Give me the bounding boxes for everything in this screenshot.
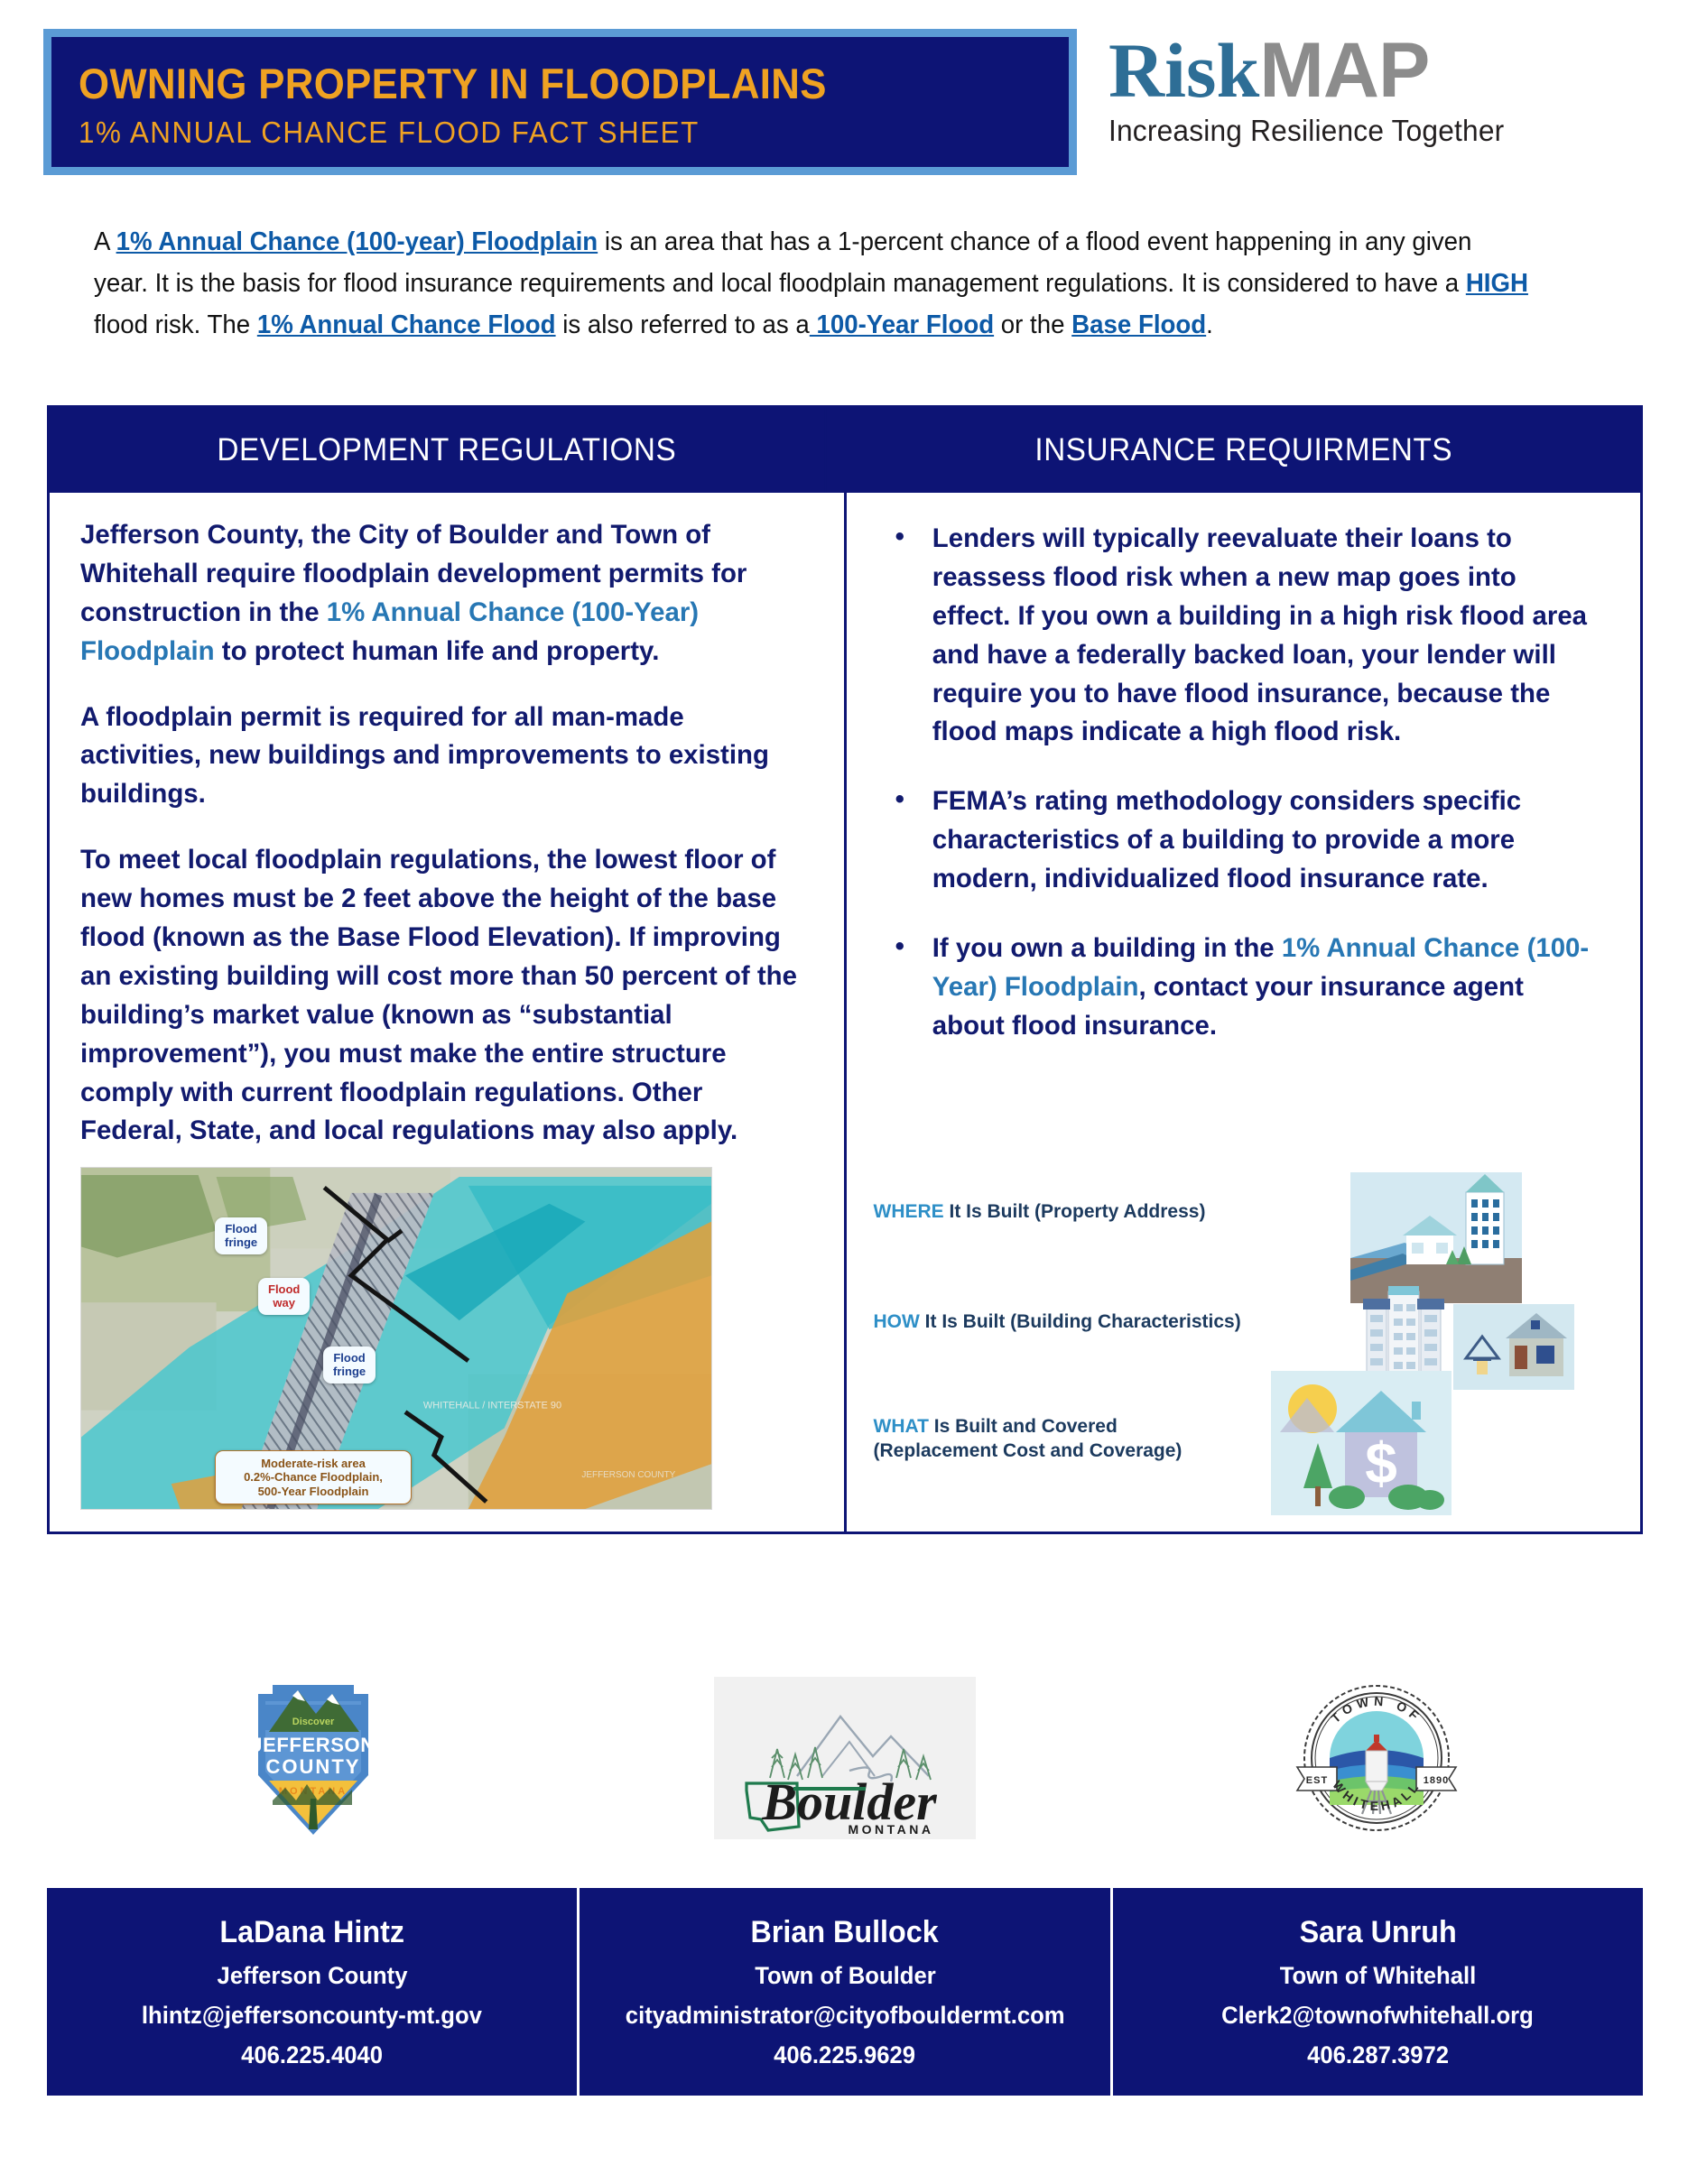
svg-text:Discover: Discover [292,1717,334,1727]
infographic-rest: It Is Built (Property Address) [944,1201,1206,1222]
regulation-paragraph: Jefferson County, the City of Boulder an… [80,516,798,671]
svg-text:1890: 1890 [1424,1775,1449,1786]
link-base-flood[interactable]: Base Flood [1071,310,1206,339]
contact-org: Town of Whitehall [1280,1962,1477,1990]
infographic-label-what: WHAT Is Built and Covered (Replacement C… [863,1414,1332,1464]
riskmap-logo-risk: Risk [1108,27,1259,114]
footer-contacts: LaDana Hintz Jefferson County lhintz@jef… [47,1888,1643,2096]
contact-phone[interactable]: 406.287.3972 [1307,2041,1449,2069]
insurance-rating-infographic: WHERE It Is Built (Property Address) [863,1190,1576,1515]
logo-boulder-montana: Boulder MONTANA [579,1661,1110,1855]
table-header-row: DEVELOPMENT REGULATIONS INSURANCE REQUIR… [50,408,1640,493]
contact-name: Sara Unruh [1299,1915,1456,1950]
infographic-label-how: HOW It Is Built (Building Characteristic… [863,1309,1332,1334]
riskmap-logo: RiskMAP Increasing Resilience Together [1108,34,1650,148]
svg-text:MONTANA: MONTANA [848,1822,933,1837]
svg-text:COUNTY: COUNTY [265,1755,360,1778]
list-item: If you own a building in the 1% Annual C… [877,930,1595,1046]
page-subtitle: 1% ANNUAL CHANCE FLOOD FACT SHEET [79,116,994,150]
what-covered-illustration: $ [1271,1371,1451,1515]
map-label-flood-fringe-bottom: Floodfringe [323,1346,376,1384]
svg-text:EST: EST [1306,1775,1328,1786]
link-1pct-annual-chance-floodplain[interactable]: 1% Annual Chance (100-year) Floodplain [116,227,598,256]
contact-card: Brian Bullock Town of Boulder cityadmini… [577,1888,1109,2096]
contact-name: Brian Bullock [751,1915,939,1950]
list-item: FEMA’s rating methodology considers spec… [877,782,1595,899]
infographic-row-how: HOW It Is Built (Building Characteristic… [863,1309,1576,1334]
regulation-paragraph: A floodplain permit is required for all … [80,699,798,815]
svg-text:WHITEHALL / INTERSTATE 90: WHITEHALL / INTERSTATE 90 [423,1401,561,1411]
contact-name: LaDana Hintz [219,1915,404,1950]
infographic-row-what: WHAT Is Built and Covered (Replacement C… [863,1414,1576,1464]
intro-text-1: A [94,227,116,256]
fact-sheet-page: OWNING PROPERTY IN FLOODPLAINS 1% ANNUAL… [0,0,1688,2184]
infographic-row-where: WHERE It Is Built (Property Address) [863,1199,1576,1224]
contact-phone[interactable]: 406.225.4040 [241,2041,383,2069]
regulation-paragraph: To meet local floodplain regulations, th… [80,841,798,1151]
link-1pct-annual-chance-flood[interactable]: 1% Annual Chance Flood [257,310,556,339]
contact-email[interactable]: Clerk2@townofwhitehall.org [1221,2002,1534,2030]
intro-text-4: is also referred to as a [556,310,810,339]
infographic-label-where: WHERE It Is Built (Property Address) [863,1199,1332,1224]
main-content-table: DEVELOPMENT REGULATIONS INSURANCE REQUIR… [47,405,1643,1534]
svg-text:JEFFERSON COUNTY: JEFFERSON COUNTY [581,1470,675,1480]
map-label-flood-fringe-top: Floodfringe [215,1217,267,1254]
infographic-keyword: WHAT [874,1416,929,1437]
intro-text-5: or the [994,310,1071,339]
list-item: Lenders will typically reevaluate their … [877,520,1595,752]
map-label-floodway: Floodway [258,1278,310,1315]
infographic-rest: It Is Built (Building Characteristics) [920,1311,1241,1332]
column-header-development-regulations: DEVELOPMENT REGULATIONS [70,408,826,493]
town-of-whitehall-logo-icon: EST 1890 TOWN OF WHITEHALL [1295,1677,1458,1839]
jefferson-county-logo-icon: Discover JEFFERSON COUNTY MONTANA [246,1674,381,1841]
page-title: OWNING PROPERTY IN FLOODPLAINS [79,61,974,106]
riskmap-logo-map: MAP [1259,27,1429,114]
floodplain-map-image: WHITEHALL / INTERSTATE 90 JEFFERSON COUN… [80,1167,712,1510]
development-regulations-cell: Jefferson County, the City of Boulder an… [50,493,847,1532]
intro-paragraph: A 1% Annual Chance (100-year) Floodplain… [94,221,1530,346]
svg-text:JEFFERSON: JEFFERSON [251,1734,375,1756]
map-label-moderate-risk-area: Moderate-risk area0.2%-Chance Floodplain… [215,1450,412,1504]
svg-text:$: $ [1365,1430,1397,1495]
page-header: OWNING PROPERTY IN FLOODPLAINS 1% ANNUAL… [0,0,1688,191]
intro-text-3: flood risk. The [94,310,257,339]
table-body-row: Jefferson County, the City of Boulder an… [50,493,1640,1532]
riskmap-tagline: Increasing Resilience Together [1108,114,1628,148]
regulation-text-b: to protect human life and property. [215,636,660,666]
column-header-insurance-requirements: INSURANCE REQUIRMENTS [866,408,1620,493]
contact-email[interactable]: lhintz@jeffersoncounty-mt.gov [142,2002,482,2030]
intro-text-6: . [1206,310,1213,339]
insurance-bullet-list: Lenders will typically reevaluate their … [877,520,1610,1046]
bullet-text-a: If you own a building in the [932,933,1281,963]
logo-jefferson-county: Discover JEFFERSON COUNTY MONTANA [47,1661,579,1855]
logo-town-of-whitehall: EST 1890 TOWN OF WHITEHALL [1111,1661,1643,1855]
bullet-text-a: FEMA’s rating methodology considers spec… [932,786,1520,893]
insurance-requirements-cell: Lenders will typically reevaluate their … [847,493,1641,1532]
contact-org: Jefferson County [217,1962,407,1990]
infographic-keyword: WHERE [874,1201,944,1222]
contact-phone[interactable]: 406.225.9629 [774,2041,916,2069]
infographic-keyword: HOW [874,1311,920,1332]
boulder-montana-logo-icon: Boulder MONTANA [714,1677,976,1839]
link-100-year-flood[interactable]: 100-Year Flood [810,310,994,339]
link-high[interactable]: HIGH [1466,269,1528,298]
contact-email[interactable]: cityadministrator@cityofbouldermt.com [626,2002,1065,2030]
contact-card: Sara Unruh Town of Whitehall Clerk2@town… [1110,1888,1643,2096]
title-banner: OWNING PROPERTY IN FLOODPLAINS 1% ANNUAL… [43,29,1077,175]
bullet-text-a: Lenders will typically reevaluate their … [932,523,1586,746]
contact-org: Town of Boulder [755,1962,935,1990]
contact-card: LaDana Hintz Jefferson County lhintz@jef… [47,1888,577,2096]
partner-logos-row: Discover JEFFERSON COUNTY MONTANA [47,1661,1643,1855]
